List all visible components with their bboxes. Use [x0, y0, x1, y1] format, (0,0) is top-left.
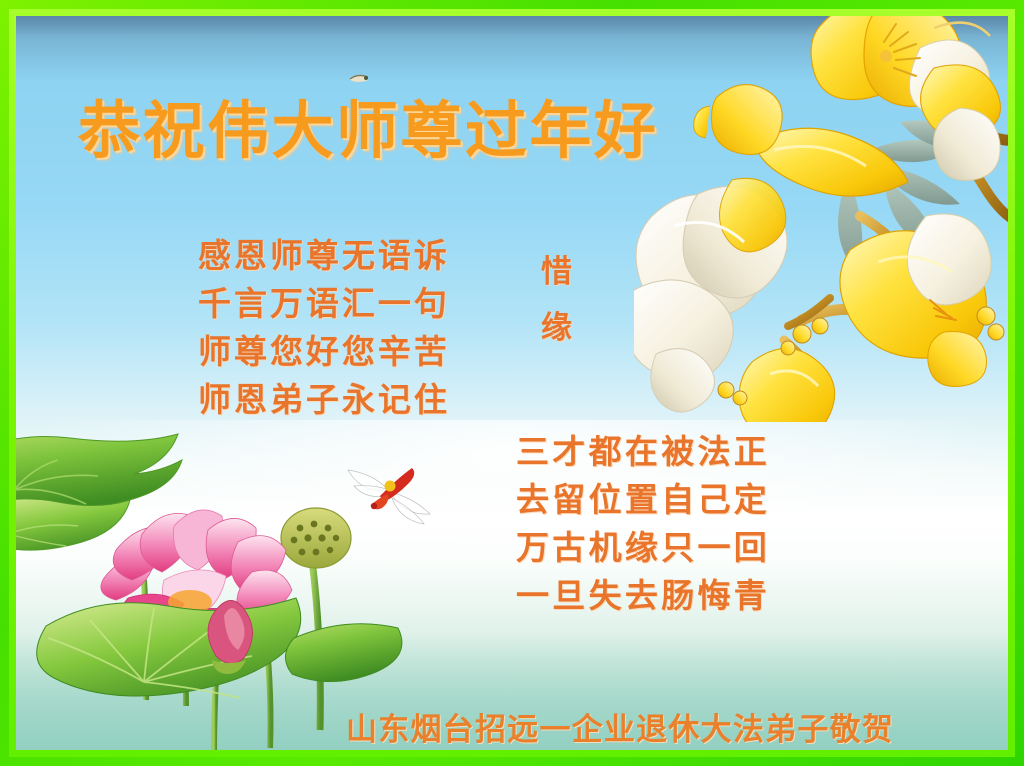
poem-one-line: 师恩弟子永记住 [198, 376, 450, 424]
greeting-card: 恭祝伟大师尊过年好 感恩师尊无语诉 千言万语汇一句 师尊您好您辛苦 师恩弟子永记… [0, 0, 1024, 766]
poem-block-one: 感恩师尊无语诉 千言万语汇一句 师尊您好您辛苦 师恩弟子永记住 [198, 232, 450, 424]
cherish-char-1: 惜 [541, 244, 574, 300]
page-title: 恭祝伟大师尊过年好 [78, 100, 658, 162]
poem-two-line: 万古机缘只一回 [516, 524, 770, 572]
poem-one-line: 千言万语汇一句 [198, 280, 450, 328]
cherish-vertical-text: 惜 缘 [541, 244, 574, 356]
poem-two-line: 三才都在被法正 [516, 428, 770, 476]
text-layer: 恭祝伟大师尊过年好 感恩师尊无语诉 千言万语汇一句 师尊您好您辛苦 师恩弟子永记… [16, 16, 1008, 750]
poem-two-line: 去留位置自己定 [516, 476, 770, 524]
poem-block-two: 三才都在被法正 去留位置自己定 万古机缘只一回 一旦失去肠悔青 [516, 428, 770, 620]
poem-one-line: 感恩师尊无语诉 [198, 232, 450, 280]
poem-two-line: 一旦失去肠悔青 [516, 572, 770, 620]
cherish-char-2: 缘 [541, 300, 574, 356]
card-artwork-area: 恭祝伟大师尊过年好 感恩师尊无语诉 千言万语汇一句 师尊您好您辛苦 师恩弟子永记… [16, 16, 1008, 750]
poem-one-line: 师尊您好您辛苦 [198, 328, 450, 376]
signature-line: 山东烟台招远一企业退休大法弟子敬贺 [346, 712, 894, 749]
